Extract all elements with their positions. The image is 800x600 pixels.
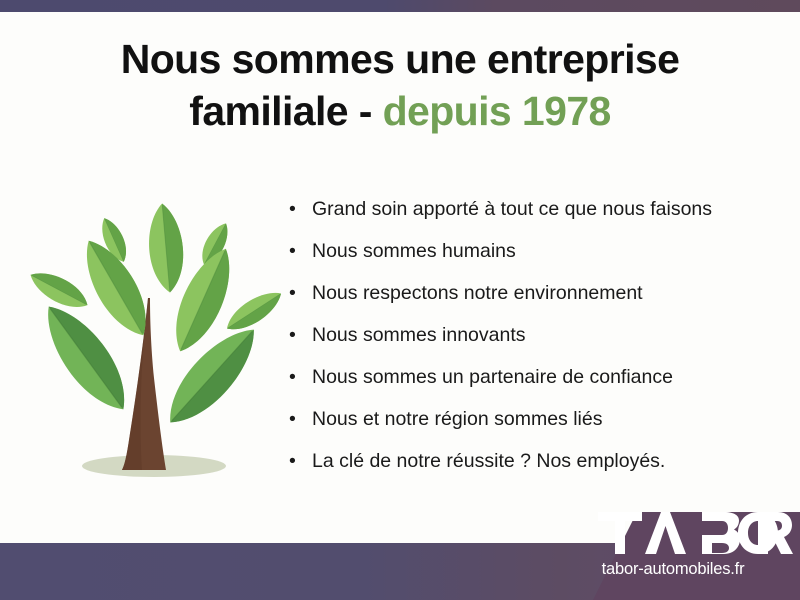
benefits-list: • Grand soin apporté à tout ce que nous …	[286, 188, 776, 482]
page-title: Nous sommes une entreprise familiale - d…	[40, 34, 760, 137]
list-item: • Grand soin apporté à tout ce que nous …	[286, 188, 776, 230]
headline-line-2-accent: depuis 1978	[383, 88, 611, 134]
headline-line-2-plain: familiale -	[189, 88, 372, 134]
list-item: • Nous sommes humains	[286, 230, 776, 272]
list-item-label: Nous et notre région sommes liés	[312, 408, 602, 430]
slide-canvas: Nous sommes une entreprise familiale - d…	[0, 0, 800, 600]
bullet-marker: •	[289, 272, 296, 314]
logo-tagline: tabor-automobiles.fr	[553, 560, 798, 579]
list-item: • La clé de notre réussite ? Nos employé…	[286, 440, 776, 482]
bullet-marker: •	[289, 230, 296, 272]
list-item-label: Nous sommes un partenaire de confiance	[312, 366, 673, 388]
bullet-marker: •	[289, 356, 296, 398]
tabor-logo-wordmark	[598, 512, 794, 554]
bullet-marker: •	[289, 440, 296, 482]
list-item: • Nous sommes un partenaire de confiance	[286, 356, 776, 398]
top-accent-bar	[0, 0, 800, 12]
list-item-label: Nous sommes innovants	[312, 324, 526, 346]
list-item-label: La clé de notre réussite ? Nos employés.	[312, 450, 665, 472]
headline-line-1: Nous sommes une entreprise	[121, 36, 680, 82]
list-item: • Nous respectons notre environnement	[286, 272, 776, 314]
bullet-marker: •	[289, 398, 296, 440]
list-item-label: Nous respectons notre environnement	[312, 282, 643, 304]
bullet-marker: •	[289, 188, 296, 230]
bullet-marker: •	[289, 314, 296, 356]
list-item-label: Grand soin apporté à tout ce que nous fa…	[312, 198, 712, 220]
list-item: • Nous sommes innovants	[286, 314, 776, 356]
tree-illustration	[16, 178, 286, 488]
list-item-label: Nous sommes humains	[312, 240, 516, 262]
list-item: • Nous et notre région sommes liés	[286, 398, 776, 440]
